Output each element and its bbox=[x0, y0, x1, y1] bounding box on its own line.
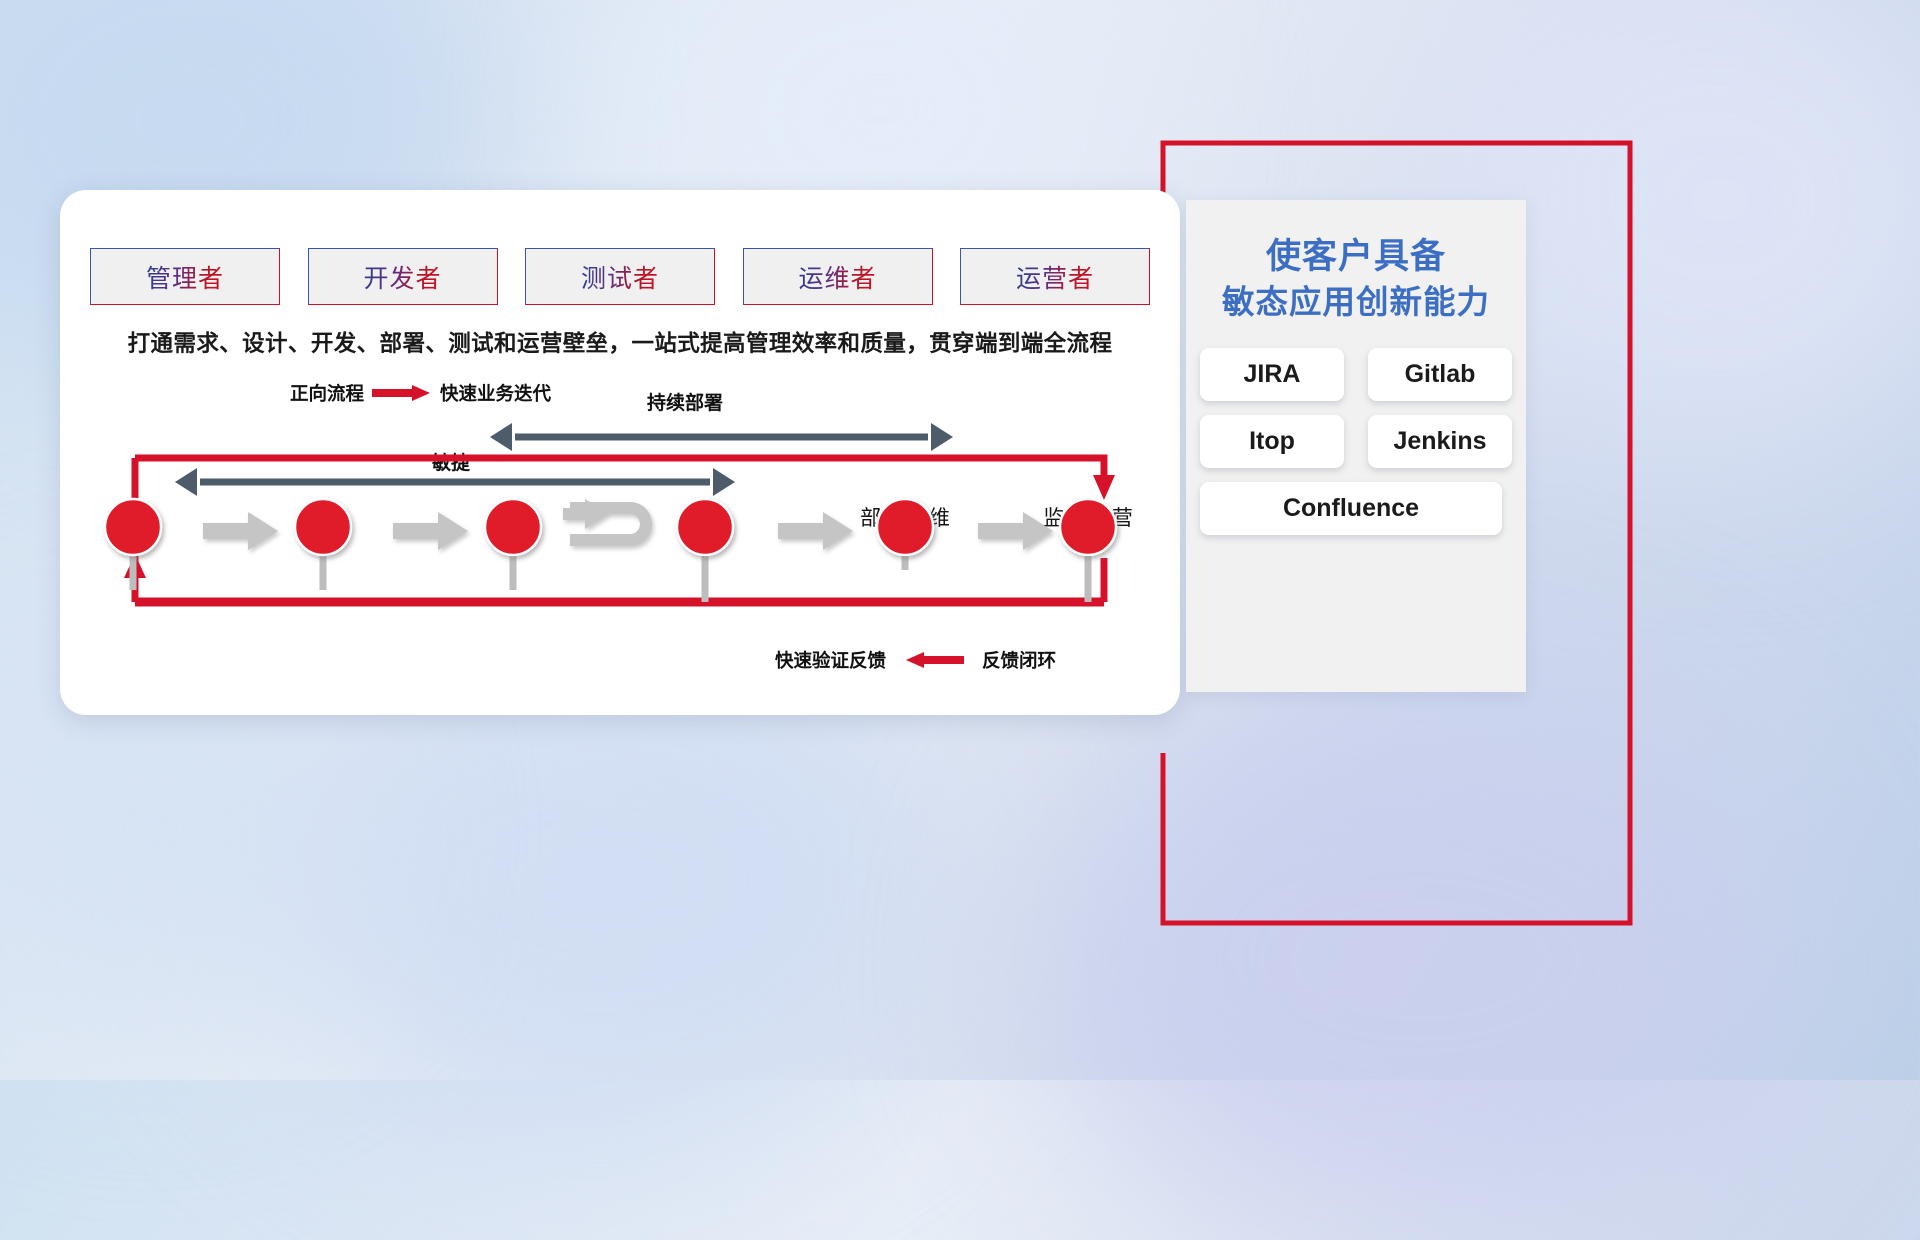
arrow-continuous-deployment bbox=[490, 423, 953, 451]
connector-arrow-2 bbox=[393, 512, 468, 550]
stage-circle-development bbox=[485, 499, 541, 555]
stage-circle-testing bbox=[677, 499, 733, 555]
pipeline-graphic bbox=[60, 190, 1180, 715]
stage-circle-design bbox=[295, 499, 351, 555]
connector-arrow-4 bbox=[778, 512, 853, 550]
background-bloom bbox=[1040, 680, 1800, 1240]
stage-circle-requirements bbox=[105, 499, 161, 555]
connector-arrow-1 bbox=[203, 512, 278, 550]
connector-arrow-loopback bbox=[563, 499, 652, 559]
tool-chip-label: Itop bbox=[1249, 427, 1295, 456]
tools-panel: 使客户具备 敏态应用创新能力 JIRA Gitlab Itop Jenkins … bbox=[1186, 200, 1526, 692]
stage-circle-deploy-ops bbox=[877, 499, 933, 555]
tool-chip-label: Confluence bbox=[1283, 494, 1419, 523]
tools-title-line2: 敏态应用创新能力 bbox=[1186, 281, 1526, 325]
tool-chip-confluence[interactable]: Confluence bbox=[1200, 482, 1502, 535]
stage-stems bbox=[133, 550, 1088, 602]
arrow-agile bbox=[175, 468, 735, 496]
stage-circle-monitor-operations bbox=[1060, 499, 1116, 555]
tools-panel-title: 使客户具备 敏态应用创新能力 bbox=[1186, 200, 1526, 324]
tool-chip-label: Gitlab bbox=[1405, 360, 1476, 389]
connector-arrow-5 bbox=[978, 512, 1053, 550]
main-card: 管理者 开发者 测试者 运维者 运营者 打通需求、设计、开发、部署、测试和运营壁… bbox=[60, 190, 1180, 715]
tools-chip-list: JIRA Gitlab Itop Jenkins Confluence bbox=[1186, 348, 1526, 535]
tool-chip-label: Jenkins bbox=[1393, 427, 1486, 456]
tool-chip-jira[interactable]: JIRA bbox=[1200, 348, 1344, 401]
tool-chip-gitlab[interactable]: Gitlab bbox=[1368, 348, 1512, 401]
tool-chip-jenkins[interactable]: Jenkins bbox=[1368, 415, 1512, 468]
tool-chip-label: JIRA bbox=[1244, 360, 1301, 389]
tools-title-line1: 使客户具备 bbox=[1266, 237, 1446, 276]
tool-chip-itop[interactable]: Itop bbox=[1200, 415, 1344, 468]
